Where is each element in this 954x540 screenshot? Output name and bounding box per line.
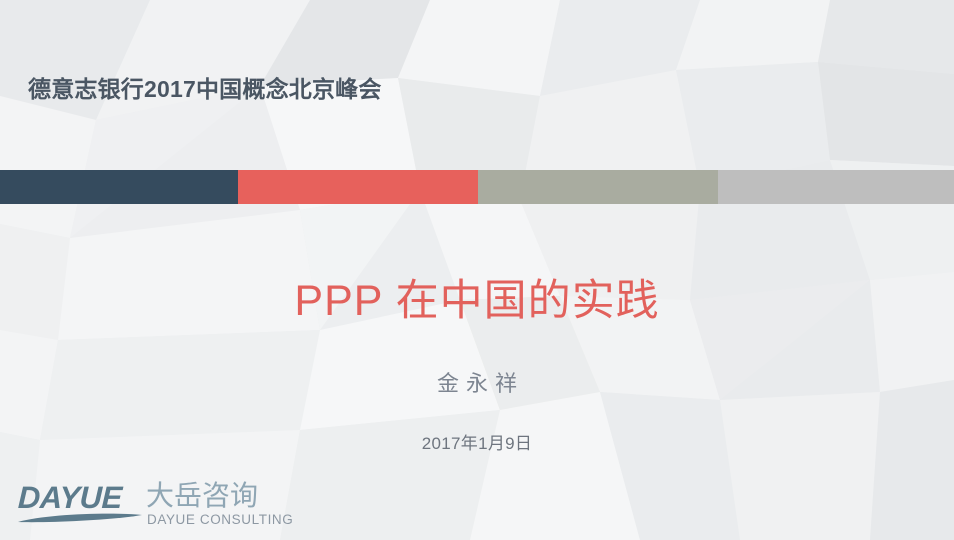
divider-segment-sage <box>478 170 718 204</box>
conference-title: 德意志银行2017中国概念北京峰会 <box>28 70 382 104</box>
divider-segment-navy <box>0 170 238 204</box>
slide-main-title: PPP 在中国的实践 <box>0 266 954 328</box>
divider-segment-gray <box>718 170 954 204</box>
presentation-date: 2017年1月9日 <box>0 429 954 454</box>
divider-segment-coral <box>238 170 478 204</box>
logo-name-group: 大岳咨询 DAYUE CONSULTING <box>146 482 274 528</box>
presenter-name: 金永祥 <box>0 366 954 398</box>
swoosh-underline-icon <box>16 511 144 525</box>
dayue-logo: DAYUE 大岳咨询 DAYUE CONSULTING <box>18 482 274 530</box>
logo-tagline: DAYUE CONSULTING <box>147 512 293 527</box>
logo-wordmark-group: DAYUE <box>18 482 140 528</box>
presentation-slide: 德意志银行2017中国概念北京峰会 PPP 在中国的实践 金永祥 2017年1月… <box>0 0 954 540</box>
color-divider-bar <box>0 170 954 204</box>
logo-chinese-name: 大岳咨询 <box>146 481 258 511</box>
logo-wordmark-text: DAYUE <box>17 482 122 514</box>
